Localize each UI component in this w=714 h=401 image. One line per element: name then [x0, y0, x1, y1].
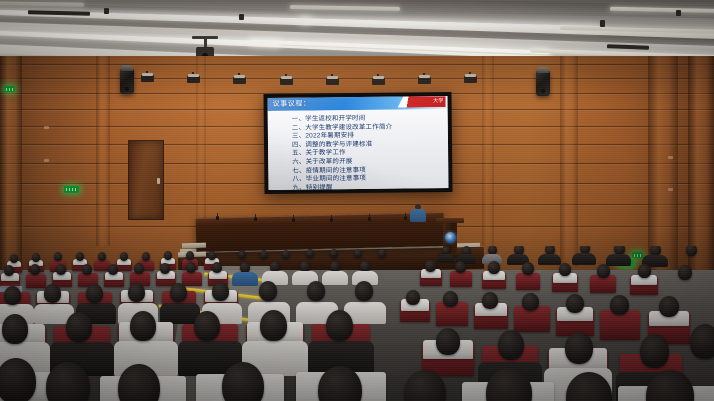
lecture-hall-photo: 议事议程： 大学 一、学生返校和开学时间 二、大学生教学建设改革工作简介 三、2… — [0, 0, 714, 401]
ceiling-fixture — [607, 44, 649, 49]
stage-spotlight — [326, 78, 339, 85]
wall-plate — [44, 159, 49, 162]
exit-sign-icon — [4, 86, 15, 92]
stage-spotlight — [187, 76, 200, 83]
ceiling-light-strip — [0, 1, 84, 7]
ceiling-fixture — [239, 14, 244, 20]
ceiling-fixture — [600, 20, 605, 27]
stage-spotlight — [464, 76, 477, 83]
table-microphone — [368, 217, 371, 221]
slide-item: 九、特别提醒 — [268, 183, 448, 190]
slide-body: 一、学生返校和开学时间 二、大学生教学建设改革工作简介 三、2022年暑期安排 … — [268, 109, 449, 190]
side-door[interactable] — [128, 140, 164, 220]
table-microphone — [330, 218, 333, 222]
table-microphone — [216, 216, 219, 220]
stage-spotlight — [141, 75, 154, 82]
wall-plate — [668, 156, 673, 159]
person-blue-shirt — [232, 272, 258, 286]
stage-spotlight — [280, 78, 293, 85]
slide-logo-text: 大学 — [433, 97, 443, 104]
wall-speaker — [120, 68, 134, 94]
slide-header-title: 议事议程： — [273, 98, 311, 108]
projection-screen: 议事议程： 大学 一、学生返校和开学时间 二、大学生教学建设改革工作简介 三、2… — [263, 92, 452, 194]
table-microphone — [404, 216, 407, 220]
table-microphone — [254, 217, 257, 221]
stage-spotlight — [418, 77, 431, 84]
stage-spotlight — [233, 77, 246, 84]
wall-speaker — [536, 70, 550, 96]
ceiling-fixture — [104, 8, 109, 14]
table-microphone — [292, 218, 295, 222]
exit-sign-icon — [64, 186, 79, 193]
wall-plate — [668, 188, 673, 191]
slide-logo: 大学 — [398, 96, 446, 108]
stage-spotlight — [372, 78, 385, 85]
podium-emblem-icon — [445, 232, 456, 243]
audience — [0, 246, 714, 401]
wall-plate — [44, 126, 49, 129]
ceiling-fixture — [676, 10, 681, 16]
